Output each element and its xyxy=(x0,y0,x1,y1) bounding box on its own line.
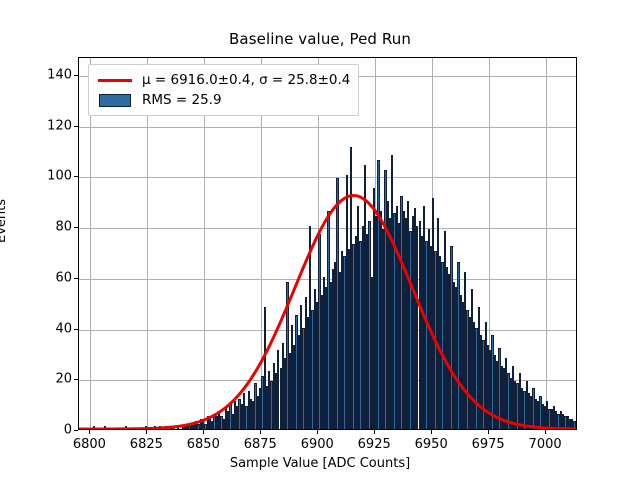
y-tick-mark xyxy=(74,379,78,380)
y-tick-mark xyxy=(74,176,78,177)
matplotlib-figure: Baseline value, Ped Run 0204060801001201… xyxy=(0,0,640,480)
x-tick-mark xyxy=(374,430,375,434)
y-tick-label: 40 xyxy=(26,321,72,336)
legend-item-fit: μ = 6916.0±0.4, σ = 25.8±0.4 xyxy=(96,70,350,90)
chart-legend: μ = 6916.0±0.4, σ = 25.8±0.4 RMS = 25.9 xyxy=(88,64,359,116)
y-tick-label: 0 xyxy=(26,423,72,438)
x-tick-label: 6900 xyxy=(301,437,334,452)
legend-label-fit: μ = 6916.0±0.4, σ = 25.8±0.4 xyxy=(142,72,350,88)
legend-item-rms: RMS = 25.9 xyxy=(96,90,350,110)
x-tick-mark xyxy=(146,430,147,434)
x-tick-label: 6800 xyxy=(73,437,106,452)
y-tick-mark xyxy=(74,75,78,76)
y-tick-label: 100 xyxy=(26,169,72,184)
x-tick-mark xyxy=(317,430,318,434)
y-tick-mark xyxy=(74,329,78,330)
x-tick-label: 6875 xyxy=(244,437,277,452)
x-tick-label: 6975 xyxy=(472,437,505,452)
y-tick-label: 140 xyxy=(26,67,72,82)
y-tick-label: 60 xyxy=(26,270,72,285)
y-tick-label: 80 xyxy=(26,220,72,235)
y-tick-mark xyxy=(74,278,78,279)
y-tick-label: 20 xyxy=(26,372,72,387)
legend-label-rms: RMS = 25.9 xyxy=(142,92,222,108)
x-tick-label: 6925 xyxy=(358,437,391,452)
y-tick-mark xyxy=(74,227,78,228)
x-tick-mark xyxy=(203,430,204,434)
x-tick-label: 6950 xyxy=(415,437,448,452)
legend-line-swatch-icon xyxy=(96,79,134,82)
x-tick-label: 6850 xyxy=(187,437,220,452)
legend-patch-swatch-icon xyxy=(96,94,134,107)
y-tick-mark xyxy=(74,430,78,431)
y-tick-mark xyxy=(74,126,78,127)
x-tick-mark xyxy=(488,430,489,434)
x-tick-mark xyxy=(431,430,432,434)
y-axis-label: Events xyxy=(0,199,9,243)
x-tick-mark xyxy=(260,430,261,434)
page-title: Baseline value, Ped Run xyxy=(0,30,640,48)
x-axis-label: Sample Value [ADC Counts] xyxy=(0,456,640,471)
x-tick-mark xyxy=(89,430,90,434)
x-tick-label: 7000 xyxy=(529,437,562,452)
x-tick-mark xyxy=(545,430,546,434)
x-tick-label: 6825 xyxy=(130,437,163,452)
y-tick-label: 120 xyxy=(26,118,72,133)
